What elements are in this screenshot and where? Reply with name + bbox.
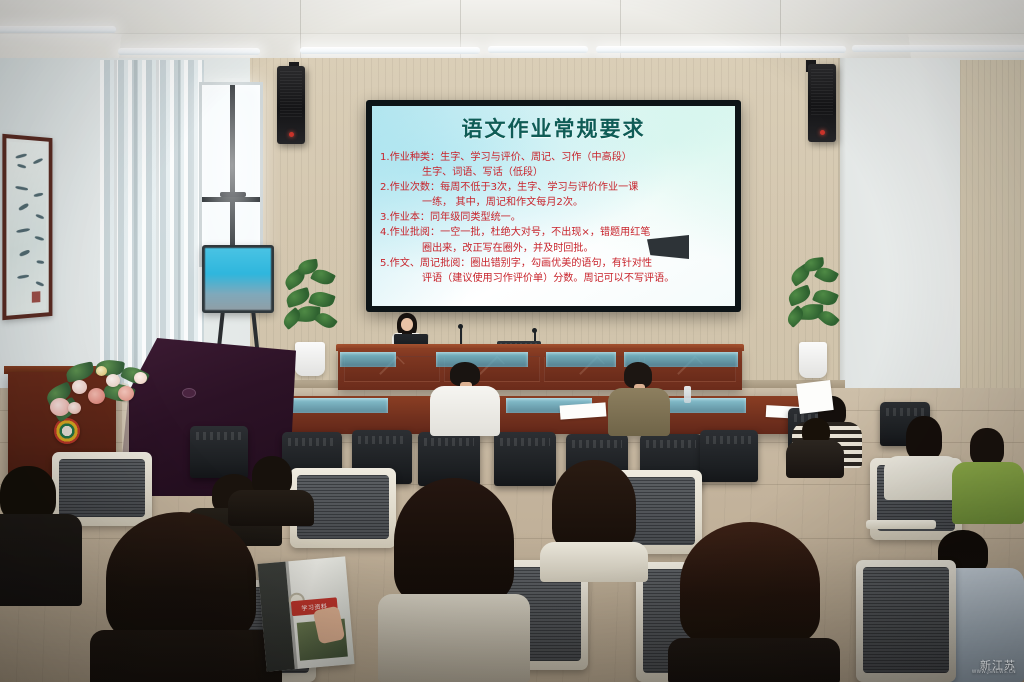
- drape-knob: [182, 388, 196, 398]
- audience-person-right-2: [952, 428, 1024, 524]
- slide-line-9: 评语（建议使用习作评价单）分数。周记可以不写评语。: [380, 271, 727, 286]
- plant-pot: [799, 342, 827, 378]
- audience-person-left-3: [228, 456, 314, 526]
- microphone-head: [532, 328, 537, 333]
- watermark-sub: WWW.JSNEWS.CN: [972, 671, 1016, 676]
- calligraphy-artwork: [2, 134, 52, 320]
- interactive-whiteboard[interactable]: [202, 245, 274, 313]
- participant-olive-shirt: [608, 362, 670, 436]
- slide-line-5: 3.作业本：同年级同类型统一。: [380, 210, 727, 225]
- participant-white-shirt: [430, 362, 500, 436]
- audience-person-center: [540, 460, 648, 580]
- ceiling-light: [0, 26, 116, 33]
- audience-person-right-4: [786, 418, 844, 478]
- audience-person-foreground-3: [672, 522, 832, 682]
- projection-screen[interactable]: 语文作业常规要求 1.作业种类：生字、学习与评价、周记、习作（中高段） 生字、词…: [366, 100, 741, 312]
- slide-line-3: 2.作业次数：每周不低于3次，生字、学习与评价作业一课: [380, 180, 727, 195]
- flower-bouquet: [44, 358, 160, 430]
- conference-room-photo: 语文作业常规要求 1.作业种类：生字、学习与评价、周记、习作（中高段） 生字、词…: [0, 0, 1024, 682]
- ceiling-light: [300, 47, 480, 54]
- ceiling-slab: [0, 0, 1024, 34]
- audience-person-foreground-2: [388, 478, 520, 682]
- watermark: 新江苏 WWW.JSNEWS.CN: [972, 660, 1016, 676]
- wall-speaker-right: [808, 64, 836, 142]
- wall-speaker-left: [277, 66, 305, 144]
- table-glass-inlay: [666, 398, 746, 413]
- table-glass-inlay: [340, 352, 396, 367]
- potted-plant-right: [786, 258, 840, 378]
- window-handle[interactable]: [220, 192, 246, 197]
- presenter-face: [401, 318, 413, 331]
- slide-line-2: 生字、词语、写话（低段）: [380, 165, 727, 180]
- microphone-head: [458, 324, 463, 329]
- conference-chair[interactable]: [700, 430, 758, 482]
- chair-tablet-arm[interactable]: [866, 520, 936, 529]
- plant-pot: [295, 342, 325, 376]
- water-bottle: [684, 386, 691, 403]
- slide-surface: 语文作业常规要求 1.作业种类：生字、学习与评价、周记、习作（中高段） 生字、词…: [372, 106, 735, 306]
- window: [199, 82, 263, 267]
- window-mullion: [230, 85, 235, 264]
- slide-line-8: 5.作文、周记批阅：圈出错别字，勾画优美的语句，有针对性: [380, 256, 727, 271]
- whiteboard-screen: [205, 248, 271, 310]
- audience-chair[interactable]: [856, 560, 956, 682]
- audience-person-foreground-1: [96, 512, 276, 682]
- calligraphy-seal: [32, 291, 41, 302]
- ceiling-light: [118, 48, 260, 55]
- table-glass-inlay: [546, 352, 616, 367]
- audience-person-left-1: [0, 466, 82, 606]
- held-paper: [796, 380, 833, 414]
- window-curtain: [100, 60, 204, 390]
- ceiling-light: [488, 46, 588, 53]
- slide-title: 语文作业常规要求: [372, 113, 735, 143]
- ceiling-light: [852, 45, 1024, 52]
- slide-line-1: 1.作业种类：生字、学习与评价、周记、习作（中高段）: [380, 150, 727, 165]
- slide-body: 1.作业种类：生字、学习与评价、周记、习作（中高段） 生字、词语、写话（低段） …: [372, 150, 735, 286]
- slide-line-4: 一练， 其中，周记和作文每月2次。: [380, 195, 727, 210]
- ceiling-light: [596, 46, 846, 53]
- right-wood-wall: [960, 60, 1024, 410]
- window-mullion: [202, 197, 260, 202]
- audience-person-right-1: [884, 416, 960, 496]
